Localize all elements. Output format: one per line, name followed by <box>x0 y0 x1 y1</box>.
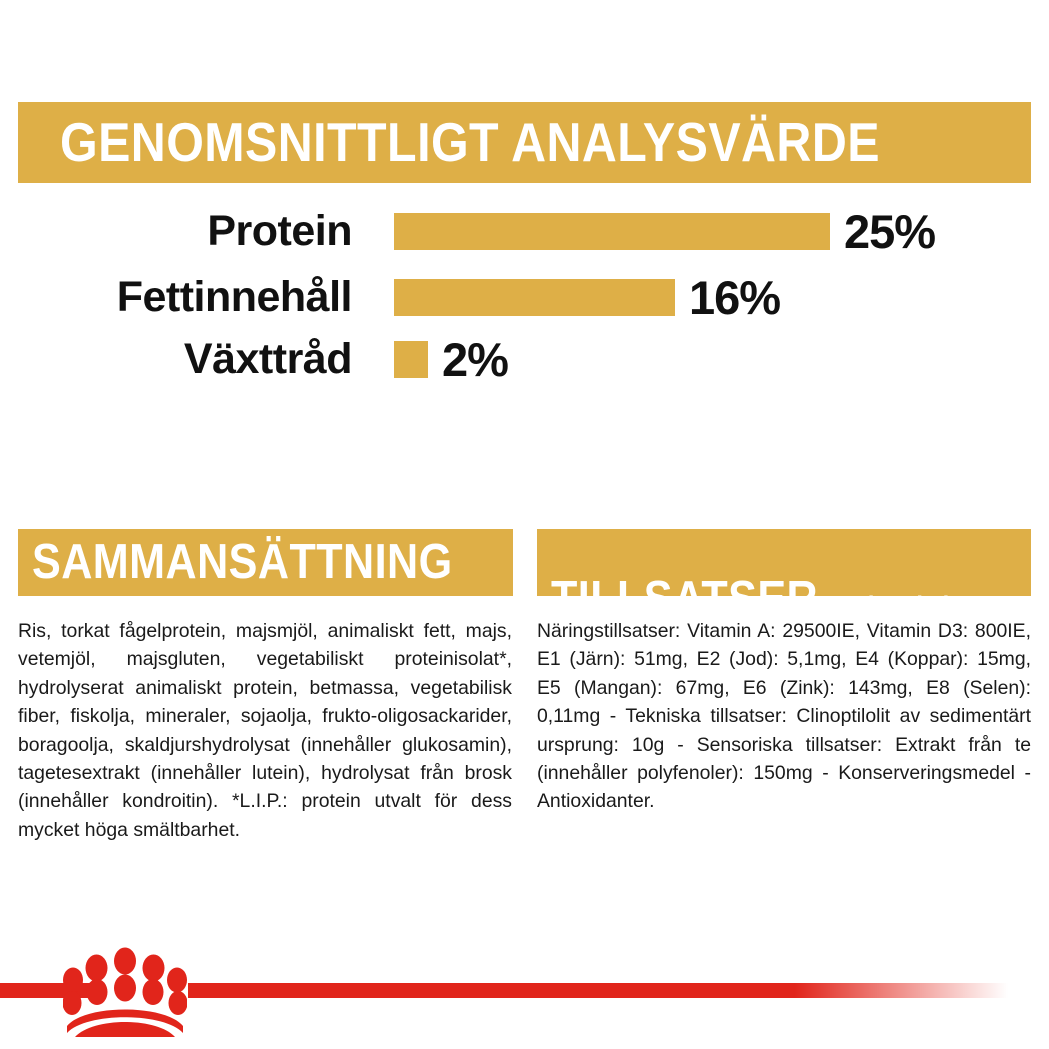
analysis-heading-text: GENOMSNITTLIGT ANALYSVÄRDE <box>60 115 880 170</box>
royal-canin-crown-icon <box>63 947 187 1037</box>
bar-value-vaxttrad: 2% <box>442 336 508 383</box>
footer-rule-right <box>188 983 1008 998</box>
composition-body-text: Ris, torkat fågelprotein, majsmjöl, anim… <box>18 617 512 844</box>
table-row: Protein 25% <box>0 205 1049 257</box>
bar-vaxttrad <box>394 341 428 378</box>
bar-value-fettinnehall: 16% <box>689 274 780 321</box>
table-row: Växttråd 2% <box>0 333 1049 385</box>
table-row: Fettinnehåll 16% <box>0 271 1049 323</box>
bar-group-protein: 25% <box>394 208 935 255</box>
nutrition-panel: GENOMSNITTLIGT ANALYSVÄRDE Protein 25% F… <box>0 0 1049 1049</box>
composition-heading-banner: SAMMANSÄTTNING <box>18 529 513 596</box>
additives-heading-banner: TILLSATSER (per kg) <box>537 529 1031 596</box>
bar-group-fettinnehall: 16% <box>394 274 780 321</box>
additives-body-text: Näringstillsatser: Vitamin A: 29500IE, V… <box>537 617 1031 816</box>
bar-group-vaxttrad: 2% <box>394 336 508 383</box>
additives-heading-unit: (per kg) <box>864 593 951 620</box>
analysis-bar-chart: Protein 25% Fettinnehåll 16% Växttråd 2% <box>0 205 1049 400</box>
bar-protein <box>394 213 830 250</box>
bar-label-fettinnehall: Fettinnehåll <box>0 275 352 319</box>
bar-value-protein: 25% <box>844 208 935 255</box>
analysis-heading-banner: GENOMSNITTLIGT ANALYSVÄRDE <box>18 102 1031 183</box>
composition-heading-text: SAMMANSÄTTNING <box>32 538 453 587</box>
bar-label-protein: Protein <box>0 209 352 253</box>
bar-fettinnehall <box>394 279 675 316</box>
footer <box>0 930 1049 1049</box>
bar-label-vaxttrad: Växttråd <box>0 337 352 381</box>
